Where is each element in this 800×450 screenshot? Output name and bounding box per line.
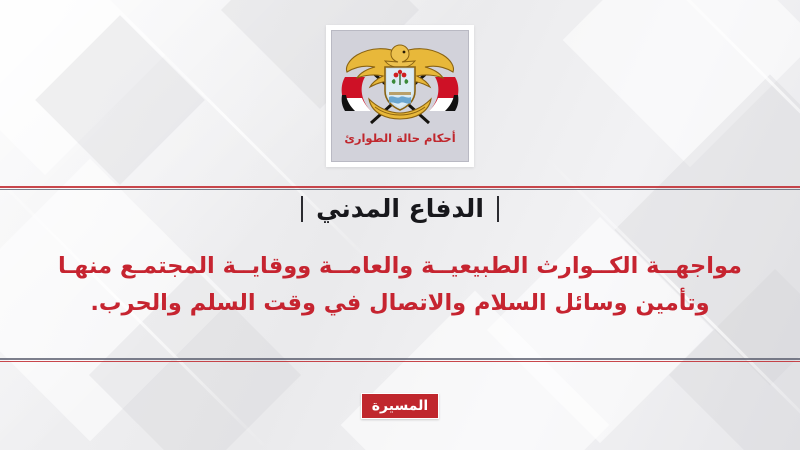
page-title: الدفاع المدني xyxy=(316,194,484,223)
divider-bottom xyxy=(0,358,800,362)
emblem-card-inner: أحكام حالة الطوارئ xyxy=(331,30,469,162)
divider-top xyxy=(0,186,800,190)
channel-logo-text: المسيرة xyxy=(372,399,428,413)
emblem-caption: أحكام حالة الطوارئ xyxy=(344,131,455,145)
channel-logo: المسيرة xyxy=(361,393,439,419)
divider-gray-line xyxy=(0,189,800,191)
divider-red-line xyxy=(0,186,800,188)
body-text: مواجهــة الكــوارث الطبيعيــة والعامــة … xyxy=(0,248,800,322)
slide-canvas: أحكام حالة الطوارئ الدفاع المدني مواجهــ… xyxy=(0,0,800,450)
yemen-national-emblem-icon xyxy=(337,37,463,129)
body-line-1: مواجهــة الكــوارث الطبيعيــة والعامــة … xyxy=(14,248,786,285)
bg-shape xyxy=(614,74,800,385)
headline-rule-left xyxy=(301,196,304,222)
divider-gray-line xyxy=(0,358,800,360)
bg-shape xyxy=(0,0,165,175)
headline-row: الدفاع المدني xyxy=(0,194,800,223)
bg-shape xyxy=(563,0,800,167)
emblem-card: أحكام حالة الطوارئ xyxy=(326,25,474,167)
bg-shape xyxy=(35,15,205,185)
headline-rule-right xyxy=(497,196,500,222)
body-line-2: وتأمين وسائل السلام والاتصال في وقت السل… xyxy=(14,285,786,322)
divider-red-line xyxy=(0,361,800,363)
bg-streak xyxy=(600,0,800,211)
